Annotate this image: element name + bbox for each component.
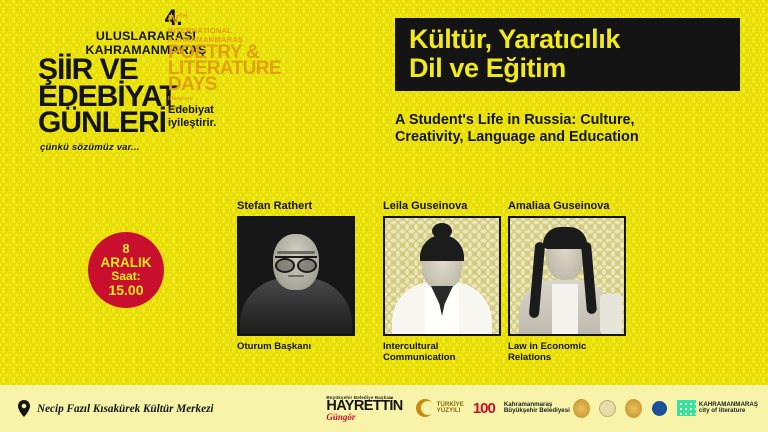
event-subtitle-line-2: Creativity, Language and Education (395, 129, 745, 146)
crescent-moon-icon (416, 399, 434, 417)
venue-name: Necip Fazıl Kısakürek Kültür Merkezi (37, 403, 214, 415)
logo-text-line-2: city of literature (699, 408, 758, 415)
motto-line-1: Edebiyat (168, 104, 216, 117)
badge-day: 8 (122, 242, 129, 256)
event-subtitle: A Student's Life in Russia: Culture, Cre… (395, 112, 745, 147)
event-title-line-1: Kültür, Yaratıcılık (409, 25, 726, 54)
logo-city-of-literature: KAHRAMANMARAŞ city of literature (677, 400, 758, 416)
speaker-name-2: Leila Guseinova (383, 200, 501, 212)
logo-turkiye-yuzyili: TÜRKİYE YÜZYILI (416, 399, 464, 417)
festival-en-international: INTERNATIONAL (168, 26, 286, 35)
badge-month: ARALIK (101, 256, 152, 271)
speaker-photo-1 (237, 216, 355, 336)
speaker-role-1-line-1: Oturum Başkanı (237, 341, 355, 352)
logo-yuzuncu-yil: 100 (473, 401, 495, 416)
motto-line-2: iyileştirir. (168, 117, 216, 130)
logo-kahramanmaras-text: Kahramanmaraş Büyükşehir Belediyesi (504, 402, 570, 416)
sponsor-logos: Büyükşehir Belediye Başkanı HAYRETTİN Gü… (326, 395, 768, 421)
event-poster: 4. ULUSLARARASI KAHRAMANMARAŞ ŞİİR VE ED… (0, 0, 768, 432)
speaker-role-2-line-2: Communication (383, 352, 501, 363)
festival-logo-english: IVTH INTERNATIONAL KAHRAMANMARAŞ POETRY … (168, 14, 286, 112)
logo-turkiye-yuzyili-text: TÜRKİYE YÜZYILI (437, 402, 464, 416)
speaker-role-3-line-2: Relations (508, 352, 626, 363)
festival-tagline: çünkü sözümüz var... (36, 142, 256, 153)
festival-title-gunleri: GÜNLERİ (36, 110, 256, 136)
logo-kahramanmaras-buyuksehir: Kahramanmaraş Büyükşehir Belediyesi (504, 399, 590, 418)
festival-en-tiny-literature: literature (168, 96, 286, 103)
speaker-photo-3 (508, 216, 626, 336)
festival-en-days: DAYS (168, 77, 286, 93)
mayor-signature: Güngör (326, 412, 355, 422)
speaker-photo-2 (383, 216, 501, 336)
event-title-line-2: Dil ve Eğitim (409, 54, 726, 83)
speaker-role-3: Law in Economic Relations (508, 341, 626, 363)
event-title-box: Kültür, Yaratıcılık Dil ve Eğitim (395, 18, 740, 91)
speaker-role-2-line-1: Intercultural (383, 341, 501, 352)
festival-motto: Edebiyat iyileştirir. (168, 104, 216, 129)
event-subtitle-line-1: A Student's Life in Russia: Culture, (395, 112, 745, 129)
speaker-card-3: Amaliaa Guseinova Law in Economic Relati… (508, 200, 626, 363)
festival-edition-roman: IVTH (168, 14, 286, 26)
speaker-name-1: Stefan Rathert (237, 200, 355, 212)
logo-100-text: 100 (473, 401, 495, 416)
speaker-role-3-line-1: Law in Economic (508, 341, 626, 352)
speaker-card-2: Leila Guseinova Intercultural Communicat… (383, 200, 501, 363)
logo-emblem-gold-circle (625, 399, 642, 418)
logo-emblem-oval (599, 400, 616, 417)
logo-text-line-2: YÜZYILI (437, 408, 464, 415)
logo-mayor-hayrettin-gungor: Büyükşehir Belediye Başkanı HAYRETTİN Gü… (326, 395, 402, 421)
medal-icon (573, 399, 590, 418)
eyeglasses-icon (275, 256, 317, 267)
speaker-name-3: Amaliaa Guseinova (508, 200, 626, 212)
speaker-card-1: Stefan Rathert Oturum Başkanı (237, 200, 355, 352)
date-time-badge: 8 ARALIK Saat: 15.00 (88, 232, 164, 308)
poster-footer: Necip Fazıl Kısakürek Kültür Merkezi Büy… (0, 385, 768, 432)
logo-city-of-literature-text: KAHRAMANMARAŞ city of literature (699, 402, 758, 416)
logo-text-line-2: Büyükşehir Belediyesi (504, 408, 570, 415)
speaker-role-1: Oturum Başkanı (237, 341, 355, 352)
speaker-role-2: Intercultural Communication (383, 341, 501, 363)
logo-emblem-blue-seal (651, 400, 668, 417)
pixel-grid-icon (677, 400, 696, 416)
location-pin-icon (18, 400, 30, 417)
venue-block: Necip Fazıl Kısakürek Kültür Merkezi (18, 400, 214, 417)
badge-time: 15.00 (108, 283, 143, 298)
